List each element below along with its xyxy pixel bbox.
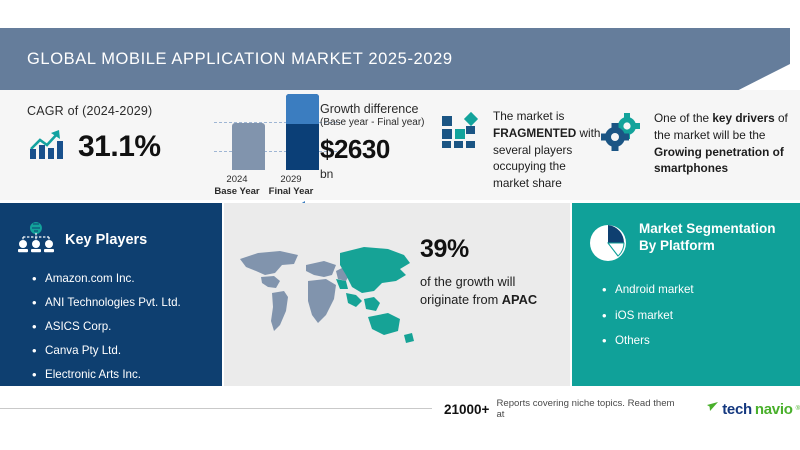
region-strong: APAC [502,292,537,307]
bar-year-final: 2029 [280,174,301,185]
top-stats-band: CAGR of (2024-2029) 31.1% [0,90,800,200]
cagr-value: 31.1% [78,130,161,164]
key-players-panel: Key Players Amazon.com Inc. ANI Technolo… [0,203,222,386]
key-drivers-text: One of the key drivers of the market wil… [654,110,799,177]
bar-sublabel-final: Final Year [263,186,319,198]
bar-final-year-cap [286,94,319,124]
list-item: ANI Technologies Pvt. Ltd. [32,297,222,309]
key-drivers-block: One of the key drivers of the market wil… [600,110,799,177]
drivers-line1: One of the [654,111,712,125]
segmentation-list: Android market iOS market Others [602,284,800,347]
fragmented-text: The market is FRAGMENTED with several pl… [493,108,605,192]
segmentation-panel: Market Segmentation By Platform Android … [572,203,800,386]
list-item: Android market [602,284,800,296]
fragmented-block: The market is FRAGMENTED with several pl… [440,108,605,192]
segmentation-header: Market Segmentation By Platform [572,203,800,270]
fragmented-line1: The market is [493,109,564,123]
drivers-strong2: Growing penetration of smartphones [654,145,784,176]
technavio-logo[interactable]: technavio® [706,400,800,418]
growth-bar-chart-icon [27,127,67,166]
header-banner: GLOBAL MOBILE APPLICATION MARKET 2025-20… [0,28,790,90]
list-item: Amazon.com Inc. [32,273,222,285]
footer-text: Reports covering niche topics. Read them… [496,398,677,420]
footer: 21000+ Reports covering niche topics. Re… [0,386,800,450]
key-players-list: Amazon.com Inc. ANI Technologies Pvt. Lt… [32,273,222,381]
gears-icon [600,110,644,157]
growth-unit: bn [320,167,460,181]
list-item: Electronic Arts Inc. [32,369,222,381]
bar-year-base: 2024 [226,174,247,185]
logo-arrow-icon [706,400,719,418]
squares-grid-icon [440,108,482,153]
key-players-header: Key Players [0,203,222,259]
bar-caption-base-year: 2024 Base Year [209,174,265,198]
region-percent: 39% [420,235,560,264]
world-map-icon [228,231,418,356]
list-item: ASICS Corp. [32,321,222,333]
page-title: GLOBAL MOBILE APPLICATION MARKET 2025-20… [0,50,453,69]
infographic-page: GLOBAL MOBILE APPLICATION MARKET 2025-20… [0,0,800,450]
key-players-title: Key Players [65,232,147,248]
bar-sublabel-base: Base Year [209,186,265,198]
list-item: iOS market [602,310,800,322]
region-text: of the growth will originate from APAC [420,273,560,308]
growth-subtitle: (Base year - Final year) [320,117,460,128]
bar-final-year [286,94,319,170]
drivers-strong1: key drivers [712,111,774,125]
growth-title: Growth difference [320,102,460,116]
logo-text-navio: navio [755,401,793,418]
growth-difference-block: Growth difference (Base year - Final yea… [320,102,460,181]
cagr-label: CAGR of (2024-2029) [27,104,222,118]
segmentation-title: Market Segmentation By Platform [639,221,779,255]
logo-trademark: ® [796,406,800,412]
pie-chart-icon [586,221,630,270]
bar-caption-final-year: 2029 Final Year [263,174,319,198]
list-item: Canva Pty Ltd. [32,345,222,357]
region-stat-block: 39% of the growth will originate from AP… [420,235,560,308]
growth-value: $2630 [320,134,460,165]
list-item: Others [602,335,800,347]
fragmented-strong: FRAGMENTED [493,126,576,140]
footer-divider [0,408,432,409]
reports-count: 21000+ [444,402,489,417]
bar-base-year [232,123,265,170]
region-panel: 39% of the growth will originate from AP… [224,203,570,386]
logo-text-tech: tech [722,401,752,418]
network-people-icon [16,220,56,259]
cagr-block: CAGR of (2024-2029) 31.1% [27,104,222,166]
